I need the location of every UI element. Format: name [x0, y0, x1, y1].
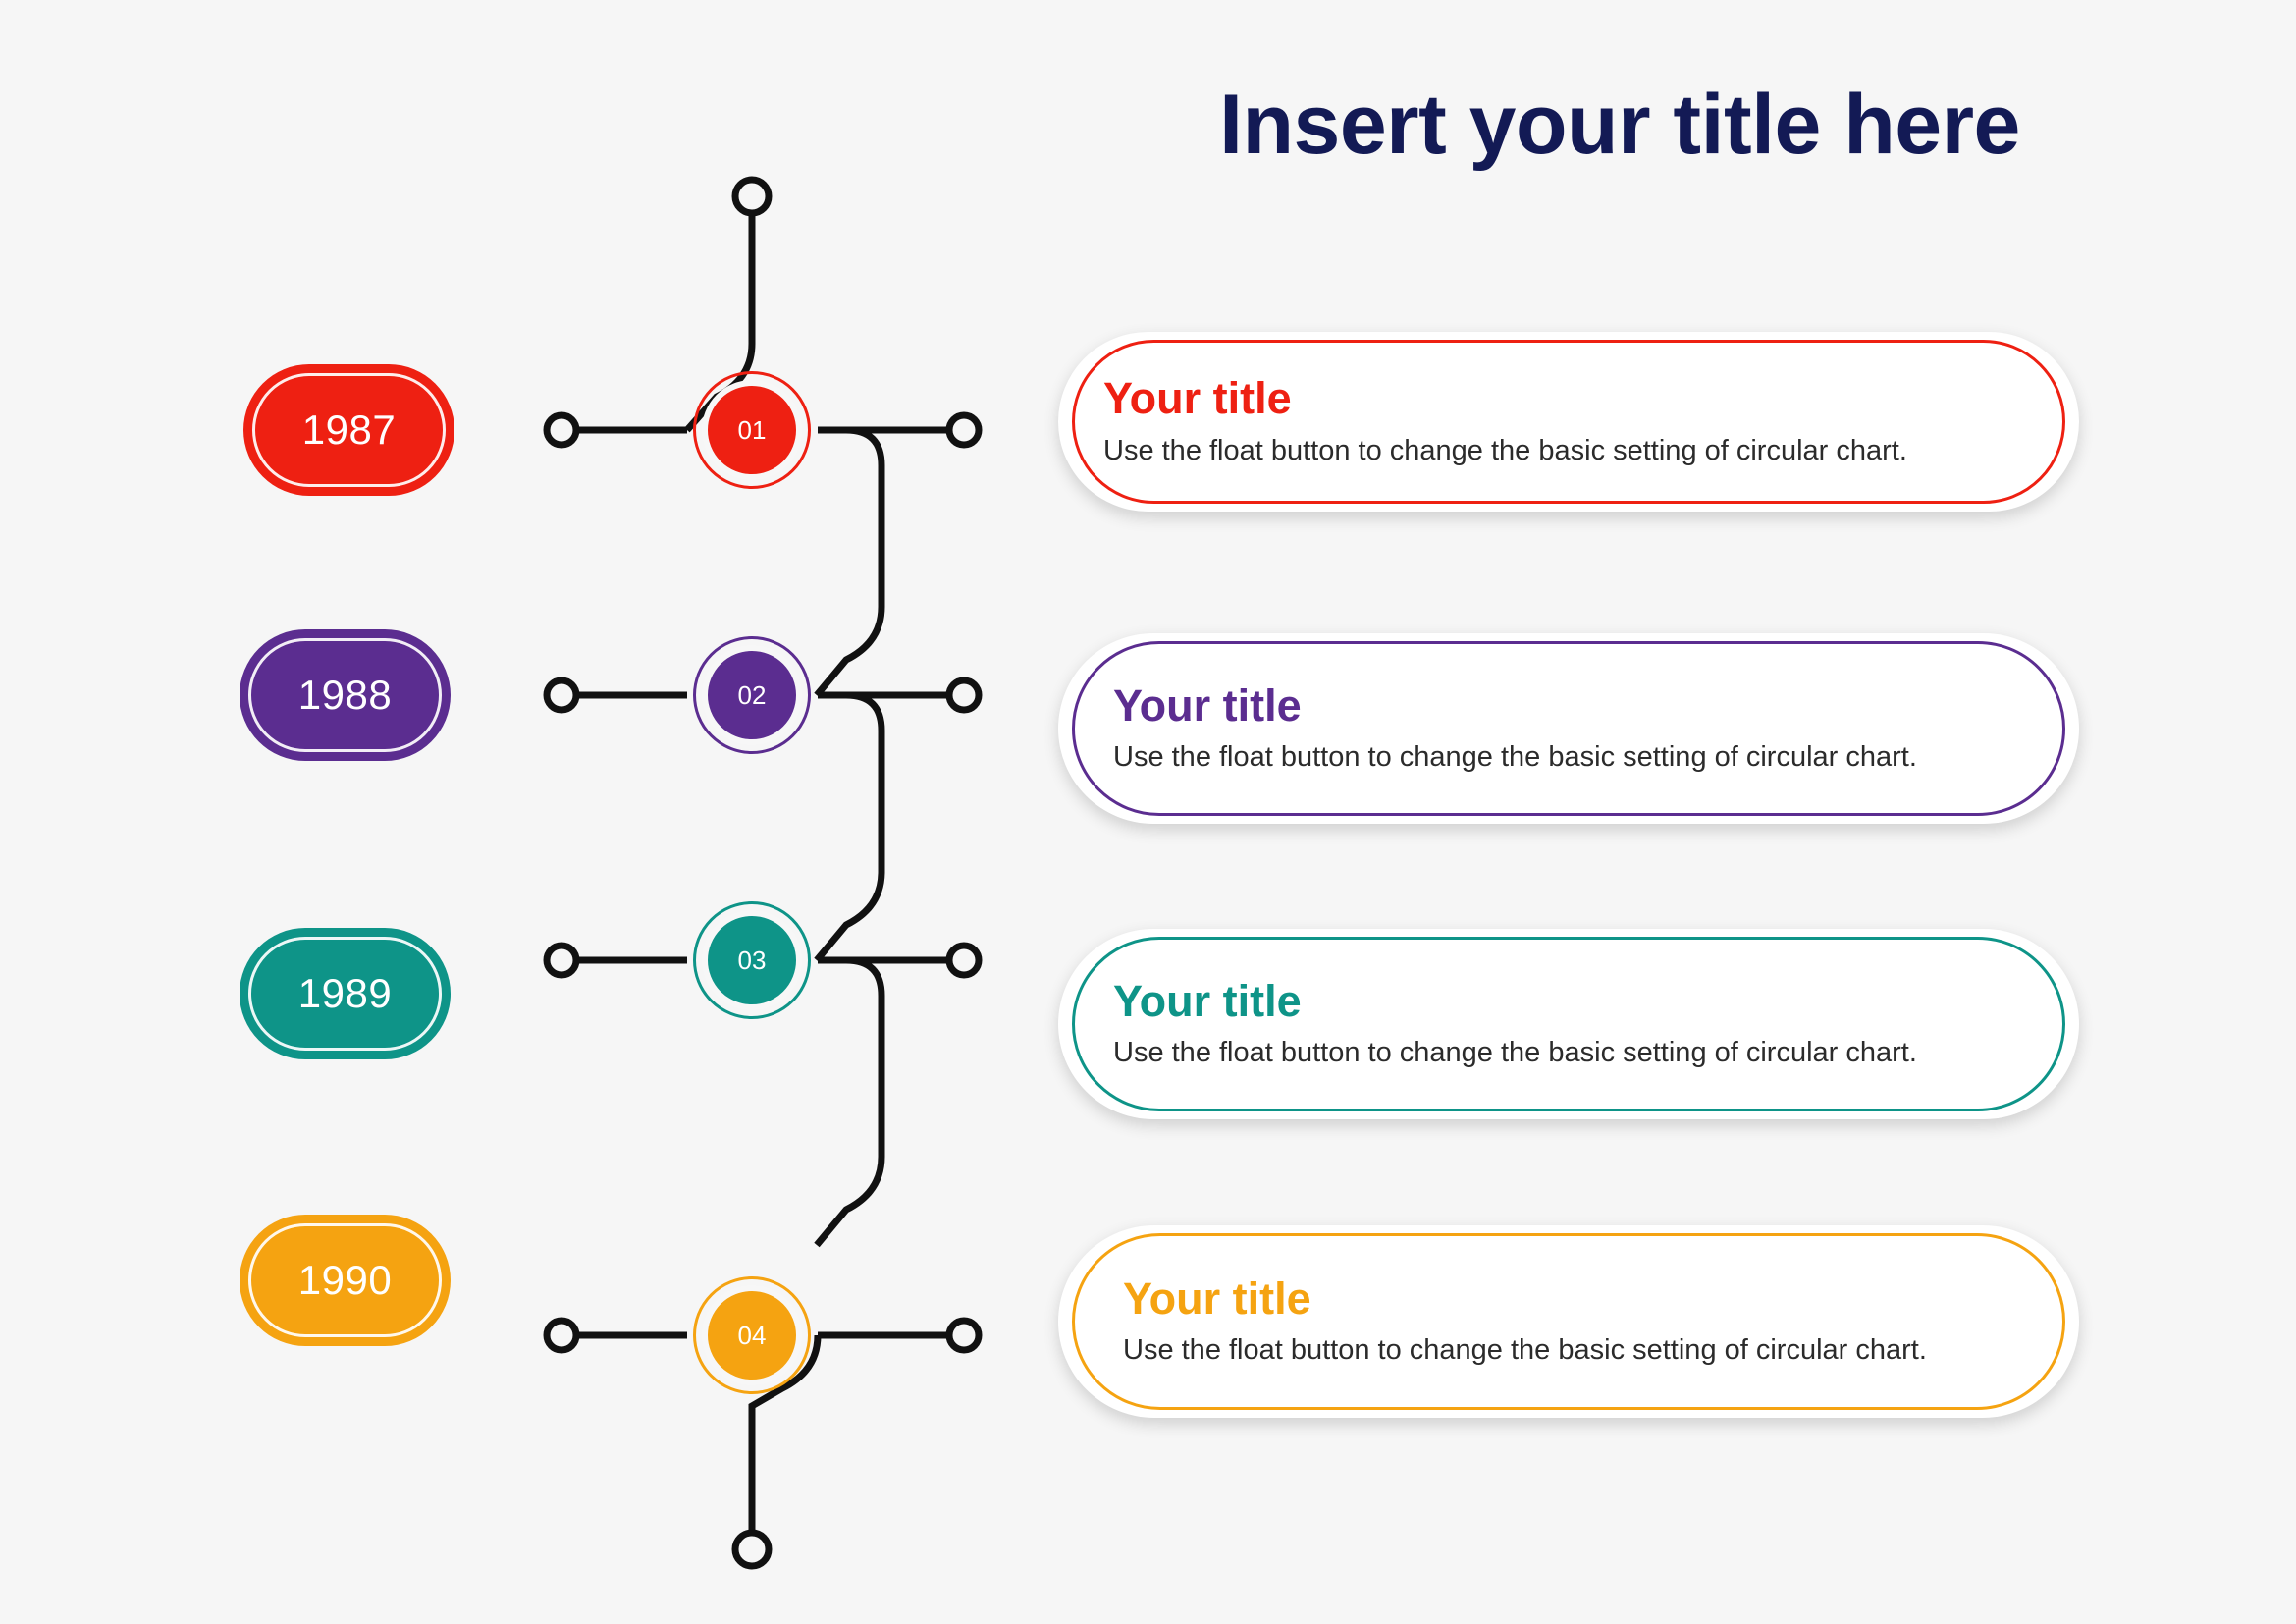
spine-segment-1-2	[817, 430, 881, 695]
year-label: 1989	[298, 970, 392, 1017]
card-title: Your title	[1123, 1275, 2034, 1322]
node-number-label: 02	[738, 680, 767, 711]
branch-right-dot-3-icon	[949, 946, 979, 975]
year-label: 1990	[298, 1257, 392, 1304]
branch-right-dot-4-icon	[949, 1321, 979, 1350]
spine-segment-2-3	[817, 695, 881, 960]
infographic-canvas: Insert your title here	[0, 0, 2296, 1624]
year-pill-1987[interactable]: 1987	[243, 364, 454, 496]
timeline-node-03[interactable]: 03	[702, 910, 802, 1010]
branch-left-dot-4-icon	[547, 1321, 576, 1350]
card-text: Use the float button to change the basic…	[1123, 1333, 2034, 1368]
branch-right-dot-2-icon	[949, 680, 979, 710]
year-label: 1987	[302, 406, 396, 454]
card-title: Your title	[1113, 682, 2034, 729]
content-card-3[interactable]: Your title Use the float button to chang…	[1058, 929, 2079, 1119]
year-pill-1989[interactable]: 1989	[240, 928, 451, 1059]
content-card-4[interactable]: Your title Use the float button to chang…	[1058, 1225, 2079, 1418]
timeline-node-04[interactable]: 04	[702, 1285, 802, 1385]
node-number-label: 04	[738, 1321, 767, 1351]
node-number-label: 01	[738, 415, 767, 446]
branch-left-dot-3-icon	[547, 946, 576, 975]
card-text: Use the float button to change the basic…	[1103, 434, 2034, 468]
year-pill-1988[interactable]: 1988	[240, 629, 451, 761]
timeline-node-01[interactable]: 01	[702, 380, 802, 480]
content-card-2[interactable]: Your title Use the float button to chang…	[1058, 633, 2079, 824]
spine-top-endpoint-icon	[735, 180, 769, 213]
card-title: Your title	[1103, 375, 2034, 421]
timeline-node-02[interactable]: 02	[702, 645, 802, 745]
branch-left-dot-1-icon	[547, 415, 576, 445]
node-number-label: 03	[738, 946, 767, 976]
card-title: Your title	[1113, 978, 2034, 1024]
branch-right-dot-1-icon	[949, 415, 979, 445]
branch-left-dot-2-icon	[547, 680, 576, 710]
card-text: Use the float button to change the basic…	[1113, 1036, 2034, 1070]
year-pill-1990[interactable]: 1990	[240, 1215, 451, 1346]
content-card-1[interactable]: Your title Use the float button to chang…	[1058, 332, 2079, 512]
page-title: Insert your title here	[1119, 77, 2120, 174]
spine-segment-3-4	[817, 960, 881, 1245]
spine-bottom-endpoint-icon	[735, 1533, 769, 1566]
year-label: 1988	[298, 672, 392, 719]
card-text: Use the float button to change the basic…	[1113, 740, 2034, 775]
